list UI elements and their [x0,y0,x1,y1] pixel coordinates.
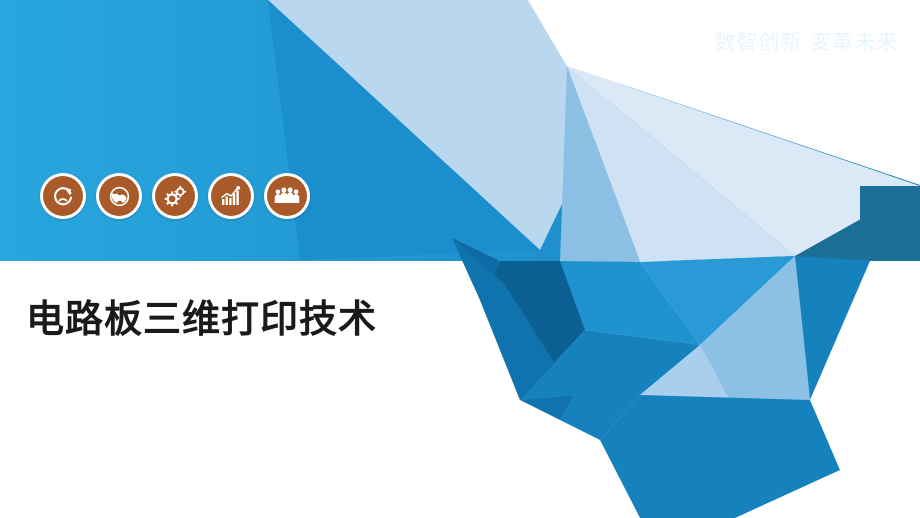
icon-row [40,173,310,219]
decorative-polygon-background [0,0,920,518]
slide-canvas: 数智创新 变革未来 [0,0,920,518]
icon-badge-globe[interactable] [96,173,142,219]
icon-badge-refresh-arrow[interactable] [40,173,86,219]
tagline-text: 数智创新 变革未来 [714,26,898,56]
gears-icon [155,176,195,216]
page-title: 电路板三维打印技术 [26,288,377,343]
icon-badge-bar-chart[interactable] [208,173,254,219]
people-group-icon [267,176,307,216]
icon-badge-gears[interactable] [152,173,198,219]
poly-edge-sliver [862,186,920,200]
poly-bottom-tail [600,395,840,518]
icon-badge-people-group[interactable] [264,173,310,219]
refresh-arrow-icon [43,176,83,216]
globe-icon [99,176,139,216]
bar-chart-icon [211,176,251,216]
